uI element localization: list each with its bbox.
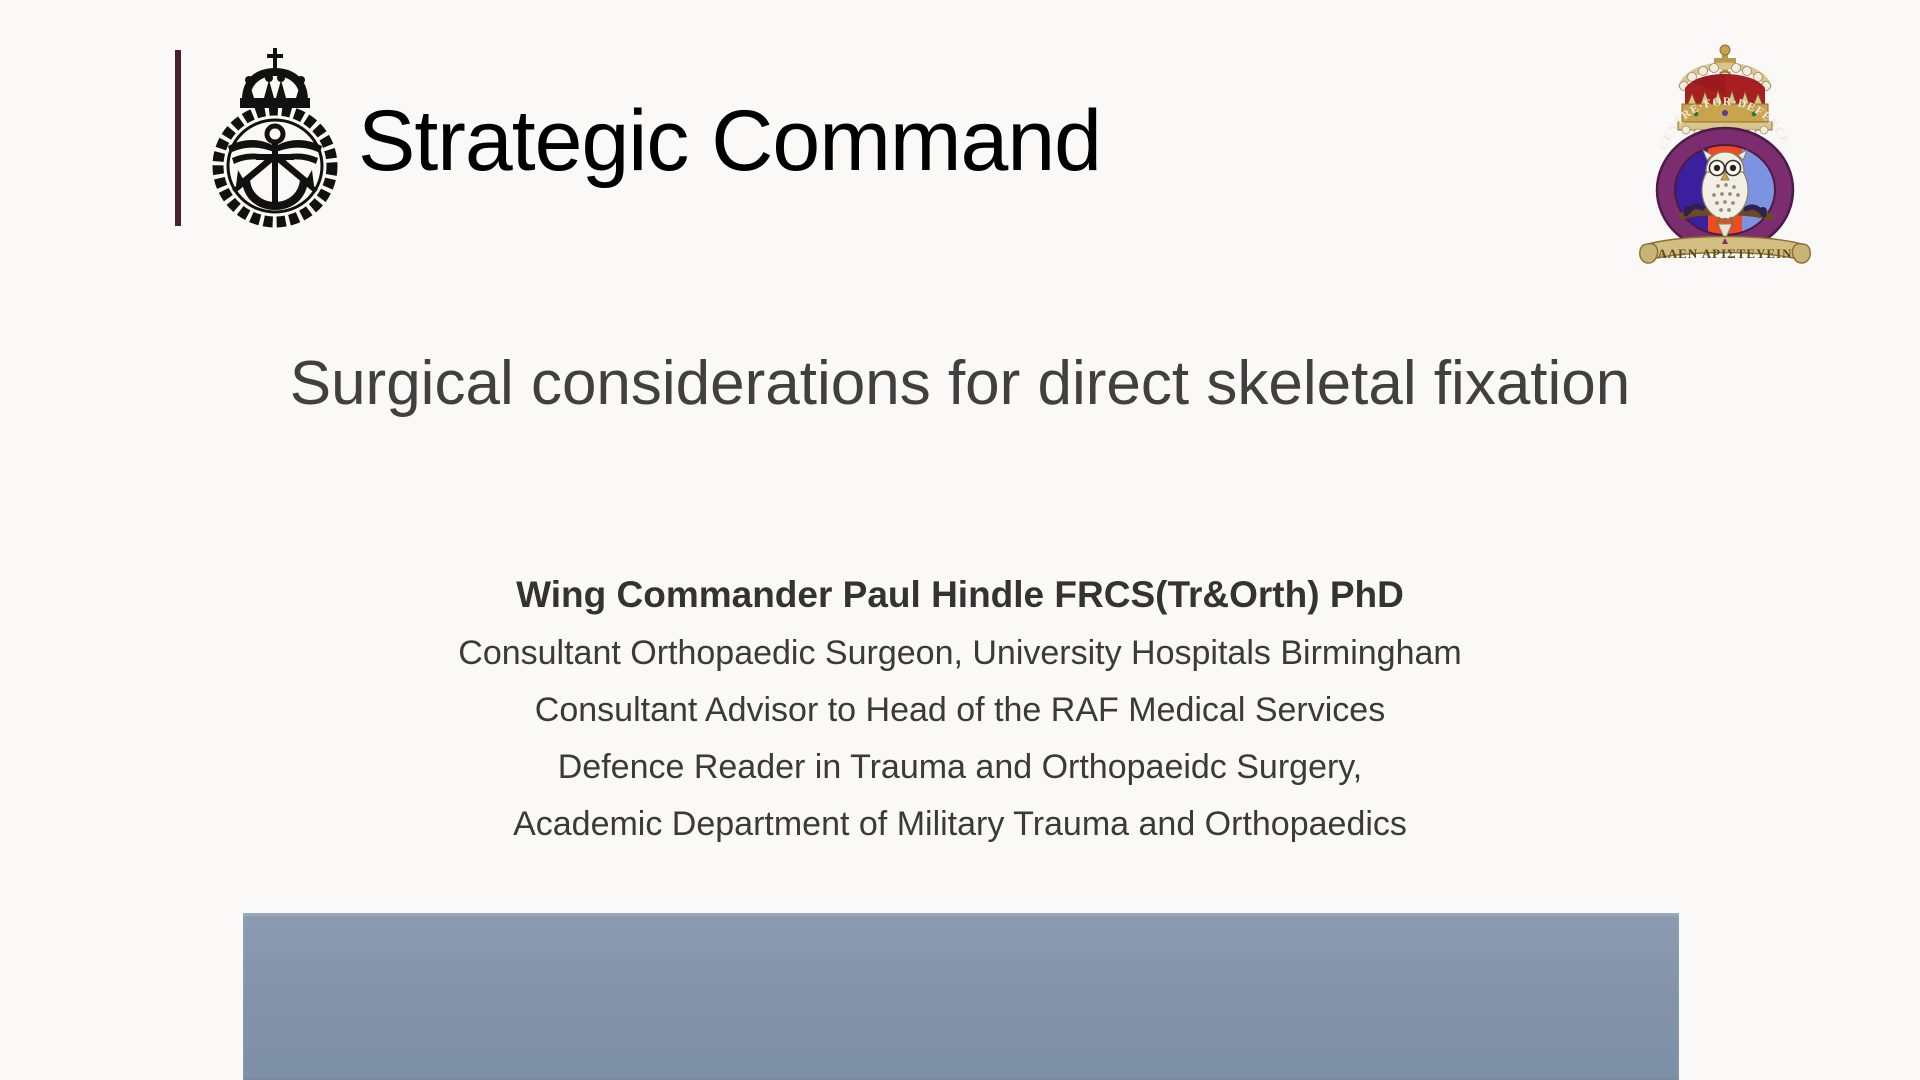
strategic-command-wordmark: Strategic Command	[358, 86, 1101, 196]
subtitle-line-role-2: Consultant Advisor to Head of the RAF Me…	[240, 682, 1680, 739]
accent-bar	[175, 50, 181, 226]
mod-tri-service-badge-icon	[212, 42, 338, 230]
content-placeholder[interactable]	[243, 913, 1679, 1080]
slide-header: Strategic Command	[0, 0, 1920, 280]
subtitle-line-role-3: Defence Reader in Trauma and Orthopaeidc…	[240, 739, 1680, 796]
subtitle-line-role-4: Academic Department of Military Trauma a…	[240, 796, 1680, 853]
svg-text:ΑΛΕΝ ΑΡΙΣΤΕΥΕΙΝ: ΑΛΕΝ ΑΡΙΣΤΕΥΕΙΝ	[1657, 246, 1792, 261]
royal-centre-for-defence-medicine-crest-icon: CENTRE·FOR·DEFENCE· ROYAL ·MEDICINE	[1630, 38, 1820, 278]
subtitle-block: Wing Commander Paul Hindle FRCS(Tr&Orth)…	[240, 565, 1680, 853]
page-title: Surgical considerations for direct skele…	[240, 348, 1680, 420]
subtitle-line-role-1: Consultant Orthopaedic Surgeon, Universi…	[240, 625, 1680, 682]
subtitle-line-presenter: Wing Commander Paul Hindle FRCS(Tr&Orth)…	[240, 565, 1680, 625]
presentation-title-slide: Strategic Command	[0, 0, 1920, 1080]
